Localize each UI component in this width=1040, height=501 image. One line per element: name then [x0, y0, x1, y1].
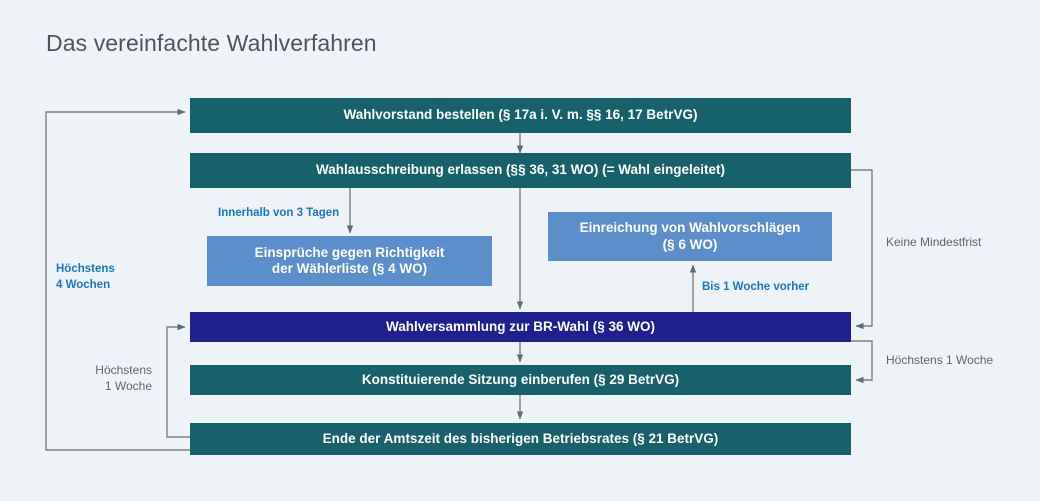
node-wahlversammlung-label: Wahlversammlung zur BR-Wahl (§ 36 WO): [386, 319, 655, 335]
edge-label-keine-mindestfrist: Keine Mindestfrist: [886, 234, 981, 250]
node-einspruche[interactable]: Einsprüche gegen Richtigkeit der Wählerl…: [207, 236, 492, 286]
edge-label-innerhalb-3-tagen: Innerhalb von 3 Tagen: [218, 206, 339, 222]
connector-hoechstens-1-woche-links: [167, 327, 190, 437]
node-wahlversammlung[interactable]: Wahlversammlung zur BR-Wahl (§ 36 WO): [190, 312, 851, 342]
node-ende-amtszeit[interactable]: Ende der Amtszeit des bisherigen Betrieb…: [190, 423, 851, 455]
connector-keine-mindestfrist: [851, 170, 872, 326]
edge-label-hoechstens-1-woche-rechts: Höchstens 1 Woche: [886, 352, 993, 368]
connector-hoechstens-1-woche-rechts: [851, 341, 872, 380]
node-ende-amtszeit-label: Ende der Amtszeit des bisherigen Betrieb…: [323, 431, 719, 447]
node-einreichung[interactable]: Einreichung von Wahlvorschlägen (§ 6 WO): [548, 212, 832, 261]
node-einspruche-label: Einsprüche gegen Richtigkeit der Wählerl…: [255, 245, 445, 278]
edge-label-bis-1-woche-vorher: Bis 1 Woche vorher: [702, 280, 809, 296]
node-einreichung-label: Einreichung von Wahlvorschlägen (§ 6 WO): [580, 220, 801, 253]
node-wahlvorstand-label: Wahlvorstand bestellen (§ 17a i. V. m. §…: [344, 107, 698, 123]
node-konstituierende-label: Konstituierende Sitzung einberufen (§ 29…: [362, 372, 679, 388]
edge-label-hoechstens-1-woche-links: Höchstens 1 Woche: [62, 362, 152, 394]
node-wahlausschreibung-label: Wahlausschreibung erlassen (§§ 36, 31 WO…: [316, 162, 725, 178]
node-konstituierende[interactable]: Konstituierende Sitzung einberufen (§ 29…: [190, 365, 851, 395]
diagram-canvas: Das vereinfachte Wahlverfahren Wahlvors: [0, 0, 1040, 501]
node-wahlvorstand[interactable]: Wahlvorstand bestellen (§ 17a i. V. m. §…: [190, 98, 851, 133]
page-title: Das vereinfachte Wahlverfahren: [46, 30, 377, 57]
edge-label-hoechstens-4-wochen: Höchstens 4 Wochen: [56, 262, 115, 293]
node-wahlausschreibung[interactable]: Wahlausschreibung erlassen (§§ 36, 31 WO…: [190, 153, 851, 188]
